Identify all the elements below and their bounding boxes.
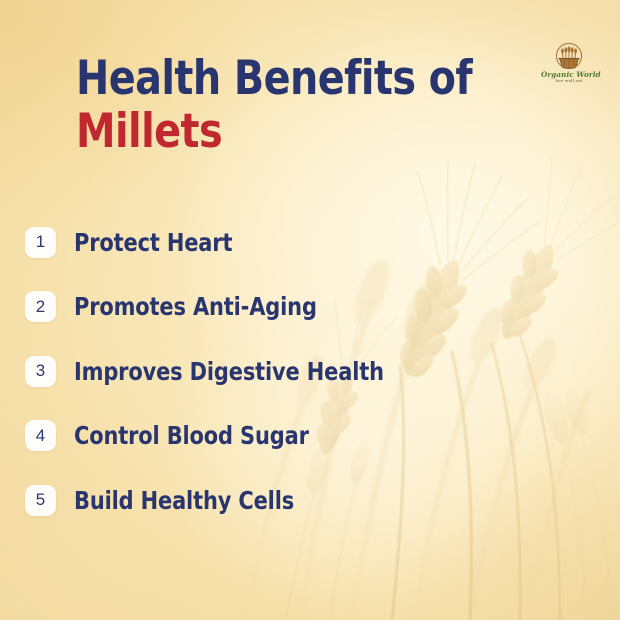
list-item: 2 Promotes Anti-Aging bbox=[25, 289, 585, 325]
list-item: 4 Control Blood Sugar bbox=[25, 418, 585, 454]
title-line-primary: Health Benefits of bbox=[76, 56, 472, 102]
list-item: 5 Build Healthy Cells bbox=[25, 482, 585, 518]
benefit-label: Promotes Anti-Aging bbox=[74, 292, 317, 321]
brand-tagline: live well eat bbox=[541, 79, 597, 84]
benefit-label: Improves Digestive Health bbox=[74, 357, 384, 386]
brand-logo[interactable]: Organic World live well eat bbox=[541, 42, 597, 96]
list-item: 1 Protect Heart bbox=[25, 224, 585, 260]
benefit-number-badge: 1 bbox=[25, 227, 56, 258]
benefit-number-badge: 5 bbox=[25, 485, 56, 516]
page-title: Health Benefits of Millets bbox=[76, 56, 497, 154]
infographic-poster: Organic World live well eat Health Benef… bbox=[0, 0, 620, 620]
benefit-label: Protect Heart bbox=[74, 228, 232, 257]
list-item: 3 Improves Digestive Health bbox=[25, 353, 585, 389]
benefit-number-badge: 4 bbox=[25, 420, 56, 451]
benefits-list: 1 Protect Heart 2 Promotes Anti-Aging 3 … bbox=[25, 224, 585, 547]
benefit-label: Build Healthy Cells bbox=[74, 486, 294, 515]
grain-basket-emblem-icon bbox=[553, 42, 585, 72]
benefit-label: Control Blood Sugar bbox=[74, 421, 309, 450]
title-line-highlight: Millets bbox=[76, 109, 472, 155]
benefit-number-badge: 3 bbox=[25, 356, 56, 387]
benefit-number-badge: 2 bbox=[25, 291, 56, 322]
